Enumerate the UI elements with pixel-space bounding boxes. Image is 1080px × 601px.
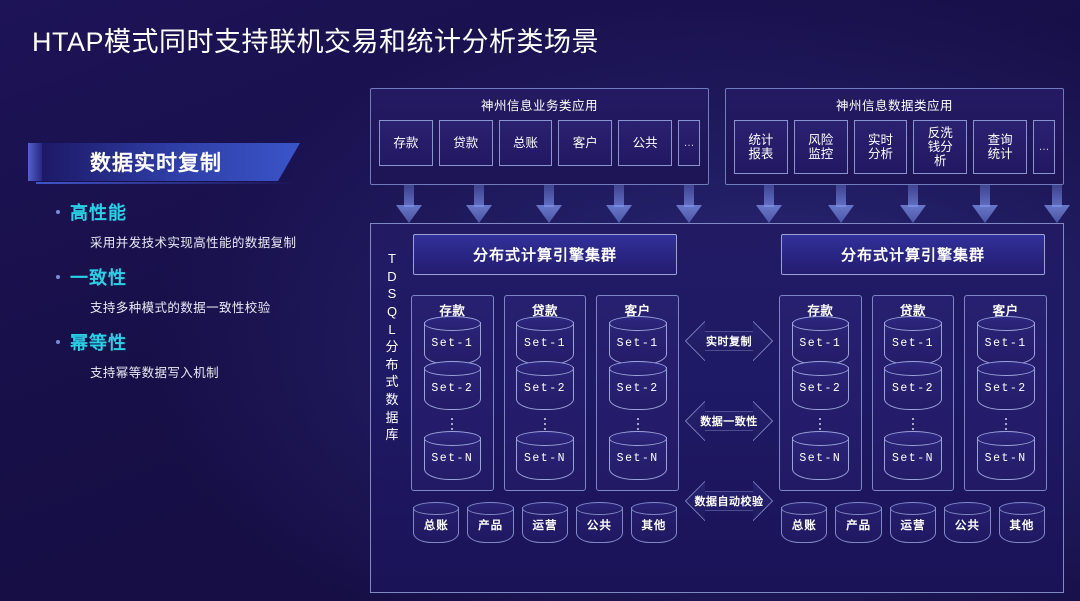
bottom-cylinder-label: 公共 [587, 517, 612, 533]
tdsql-vertical-label: T D S Q L 分 布 式 数 据 库 [377, 234, 407, 578]
compute-engine-cluster: 分布式计算引擎集群 [413, 234, 677, 275]
tdsql-panel: T D S Q L 分 布 式 数 据 库 分布式计算引擎集群 存款 Set-1… [370, 223, 1064, 593]
app-cell[interactable]: 查询 统计 [973, 120, 1027, 174]
bullet-heading: 一致性 [70, 264, 127, 290]
cluster-right: 分布式计算引擎集群 存款 Set-1 Set-2 Set-N 贷款 Set-1 … [775, 234, 1051, 543]
bottom-cylinder: 运营 [522, 507, 568, 543]
vertical-label-char: T [388, 252, 396, 266]
bottom-cylinder-label: 其他 [1009, 517, 1034, 533]
down-arrow-group-right [756, 185, 1070, 223]
app-cell[interactable]: 统计 报表 [734, 120, 788, 174]
set-label: Set-1 [985, 337, 1027, 350]
set-cylinder: Set-N [424, 437, 482, 480]
app-cell-more[interactable]: … [678, 120, 700, 166]
set-label: Set-2 [985, 382, 1027, 395]
app-cell[interactable]: 客户 [558, 120, 612, 166]
set-cylinder: Set-1 [516, 322, 574, 365]
bullet-dot-icon [56, 340, 60, 344]
app-cell[interactable]: 贷款 [439, 120, 493, 166]
down-arrow-icon [536, 185, 562, 223]
set-label: Set-1 [892, 337, 934, 350]
set-cylinder: Set-1 [884, 322, 942, 365]
set-label: Set-N [617, 452, 659, 465]
set-cylinder: Set-N [792, 437, 850, 480]
app-box-title: 神州信息数据类应用 [734, 95, 1055, 114]
set-label: Set-2 [892, 382, 934, 395]
bottom-cylinder: 公共 [944, 507, 990, 543]
down-arrow-icon [606, 185, 632, 223]
bullet-item-0: 高性能 采用并发技术实现高性能的数据复制 [28, 199, 358, 251]
set-label: Set-1 [799, 337, 841, 350]
vertical-label-char: 据 [385, 411, 398, 425]
set-cylinder: Set-N [516, 437, 574, 480]
set-cylinder: Set-N [609, 437, 667, 480]
bottom-cylinder-row: 总账 产品 运营 公共 其他 [775, 491, 1051, 543]
bottom-cylinder-label: 总账 [792, 517, 817, 533]
bottom-cylinder: 其他 [999, 507, 1045, 543]
set-cylinder: Set-2 [516, 367, 574, 410]
bottom-cylinder: 总账 [781, 507, 827, 543]
set-cylinder: Set-2 [792, 367, 850, 410]
bottom-cylinder-label: 产品 [846, 517, 871, 533]
bottom-cylinder: 产品 [835, 507, 881, 543]
bullet-item-2: 幂等性 支持幂等数据写入机制 [28, 329, 358, 381]
set-label: Set-1 [617, 337, 659, 350]
bidirectional-arrow-icon: 实时复制 [685, 320, 773, 362]
bullet-dot-icon [56, 275, 60, 279]
app-cell[interactable]: 公共 [618, 120, 672, 166]
cluster-left: 分布式计算引擎集群 存款 Set-1 Set-2 Set-N 贷款 Set-1 … [407, 234, 683, 543]
sync-arrow-label: 数据自动校验 [695, 493, 764, 509]
set-column: 存款 Set-1 Set-2 Set-N [411, 295, 494, 491]
bullet-dot-icon [56, 210, 60, 214]
bidirectional-arrow-icon: 数据一致性 [685, 400, 773, 442]
bidirectional-arrow-icon: 数据自动校验 [685, 480, 773, 522]
sync-arrow-label: 实时复制 [706, 333, 752, 349]
app-box-business: 神州信息业务类应用 存款 贷款 总账 客户 公共 … [370, 88, 709, 185]
sync-arrow-label: 数据一致性 [700, 413, 758, 429]
set-column: 存款 Set-1 Set-2 Set-N [779, 295, 862, 491]
set-cylinder: Set-2 [977, 367, 1035, 410]
set-label: Set-2 [524, 382, 566, 395]
app-cell-list: 存款 贷款 总账 客户 公共 … [379, 120, 700, 166]
bullet-description: 支持多种模式的数据一致性校验 [28, 297, 358, 316]
set-column: 客户 Set-1 Set-2 Set-N [964, 295, 1047, 491]
set-cylinder: Set-2 [884, 367, 942, 410]
architecture-diagram: 神州信息业务类应用 存款 贷款 总账 客户 公共 … 神州信息数据类应用 统计 … [370, 88, 1064, 593]
bullet-item-1: 一致性 支持多种模式的数据一致性校验 [28, 264, 358, 316]
app-cell[interactable]: 总账 [499, 120, 553, 166]
app-cell[interactable]: 存款 [379, 120, 433, 166]
bullet-heading: 幂等性 [70, 329, 127, 355]
set-cylinder: Set-2 [424, 367, 482, 410]
set-cylinder: Set-N [977, 437, 1035, 480]
down-arrow-icon [396, 185, 422, 223]
down-arrow-icon [828, 185, 854, 223]
set-column: 贷款 Set-1 Set-2 Set-N [872, 295, 955, 491]
bottom-cylinder-label: 公共 [955, 517, 980, 533]
down-arrow-icon [972, 185, 998, 223]
set-cylinder: Set-2 [609, 367, 667, 410]
set-cylinder: Set-1 [424, 322, 482, 365]
bottom-cylinder-label: 总账 [424, 517, 449, 533]
app-cell-more[interactable]: … [1033, 120, 1055, 174]
left-panel-banner: 数据实时复制 [28, 143, 300, 181]
set-label: Set-N [524, 452, 566, 465]
app-box-title: 神州信息业务类应用 [379, 95, 700, 114]
bottom-cylinder: 运营 [890, 507, 936, 543]
sync-arrow-column: 实时复制 数据一致性 数据自动校验 [683, 234, 775, 522]
set-column: 客户 Set-1 Set-2 Set-N [596, 295, 679, 491]
set-column: 贷款 Set-1 Set-2 Set-N [504, 295, 587, 491]
app-cell[interactable]: 实时 分析 [854, 120, 908, 174]
bullet-description: 采用并发技术实现高性能的数据复制 [28, 232, 358, 251]
bullet-list: 高性能 采用并发技术实现高性能的数据复制 一致性 支持多种模式的数据一致性校验 … [28, 199, 358, 381]
set-label: Set-2 [617, 382, 659, 395]
set-cylinder: Set-1 [977, 322, 1035, 365]
bullet-description: 支持幂等数据写入机制 [28, 362, 358, 381]
vertical-label-char: Q [387, 305, 397, 319]
down-arrow-band [370, 185, 1064, 223]
set-label: Set-N [892, 452, 934, 465]
vertical-label-char: S [388, 287, 397, 301]
down-arrow-icon [466, 185, 492, 223]
app-cell[interactable]: 反洗 钱分 析 [913, 120, 967, 174]
vertical-label-char: 库 [385, 428, 398, 442]
bottom-cylinder-label: 运营 [533, 517, 558, 533]
compute-engine-cluster: 分布式计算引擎集群 [781, 234, 1045, 275]
set-label: Set-N [985, 452, 1027, 465]
vertical-label-char: 式 [385, 375, 398, 389]
bottom-cylinder: 产品 [467, 507, 513, 543]
bottom-cylinder: 总账 [413, 507, 459, 543]
bullet-heading: 高性能 [70, 199, 127, 225]
app-cell-list: 统计 报表 风险 监控 实时 分析 反洗 钱分 析 查询 统计 … [734, 120, 1055, 174]
vertical-label-char: 布 [385, 358, 398, 372]
bottom-cylinder-row: 总账 产品 运营 公共 其他 [407, 491, 683, 543]
banner-label: 数据实时复制 [28, 147, 300, 177]
set-label: Set-2 [431, 382, 473, 395]
vertical-label-char: L [388, 323, 395, 337]
set-column-row: 存款 Set-1 Set-2 Set-N 贷款 Set-1 Set-2 Set-… [407, 295, 683, 491]
vertical-label-char: D [387, 270, 396, 284]
banner-underline [36, 182, 300, 184]
left-panel: 数据实时复制 高性能 采用并发技术实现高性能的数据复制 一致性 支持多种模式的数… [28, 143, 358, 394]
set-label: Set-N [799, 452, 841, 465]
set-cylinder: Set-N [884, 437, 942, 480]
app-cell[interactable]: 风险 监控 [794, 120, 848, 174]
set-label: Set-N [431, 452, 473, 465]
vertical-label-char: 数 [385, 393, 398, 407]
set-column-row: 存款 Set-1 Set-2 Set-N 贷款 Set-1 Set-2 Set-… [775, 295, 1051, 491]
down-arrow-icon [1044, 185, 1070, 223]
down-arrow-icon [676, 185, 702, 223]
set-label: Set-1 [431, 337, 473, 350]
bottom-cylinder: 其他 [631, 507, 677, 543]
bottom-cylinder: 公共 [576, 507, 622, 543]
app-box-data: 神州信息数据类应用 统计 报表 风险 监控 实时 分析 反洗 钱分 析 查询 统… [725, 88, 1064, 185]
application-row: 神州信息业务类应用 存款 贷款 总账 客户 公共 … 神州信息数据类应用 统计 … [370, 88, 1064, 185]
set-label: Set-1 [524, 337, 566, 350]
page-title: HTAP模式同时支持联机交易和统计分析类场景 [32, 20, 599, 59]
set-cylinder: Set-1 [609, 322, 667, 365]
down-arrow-group-left [396, 185, 702, 223]
bottom-cylinder-label: 产品 [478, 517, 503, 533]
cluster-container: 分布式计算引擎集群 存款 Set-1 Set-2 Set-N 贷款 Set-1 … [407, 234, 1051, 578]
down-arrow-icon [900, 185, 926, 223]
down-arrow-icon [756, 185, 782, 223]
set-cylinder: Set-1 [792, 322, 850, 365]
bottom-cylinder-label: 运营 [901, 517, 926, 533]
bottom-cylinder-label: 其他 [641, 517, 666, 533]
set-label: Set-2 [799, 382, 841, 395]
vertical-label-char: 分 [385, 340, 398, 354]
